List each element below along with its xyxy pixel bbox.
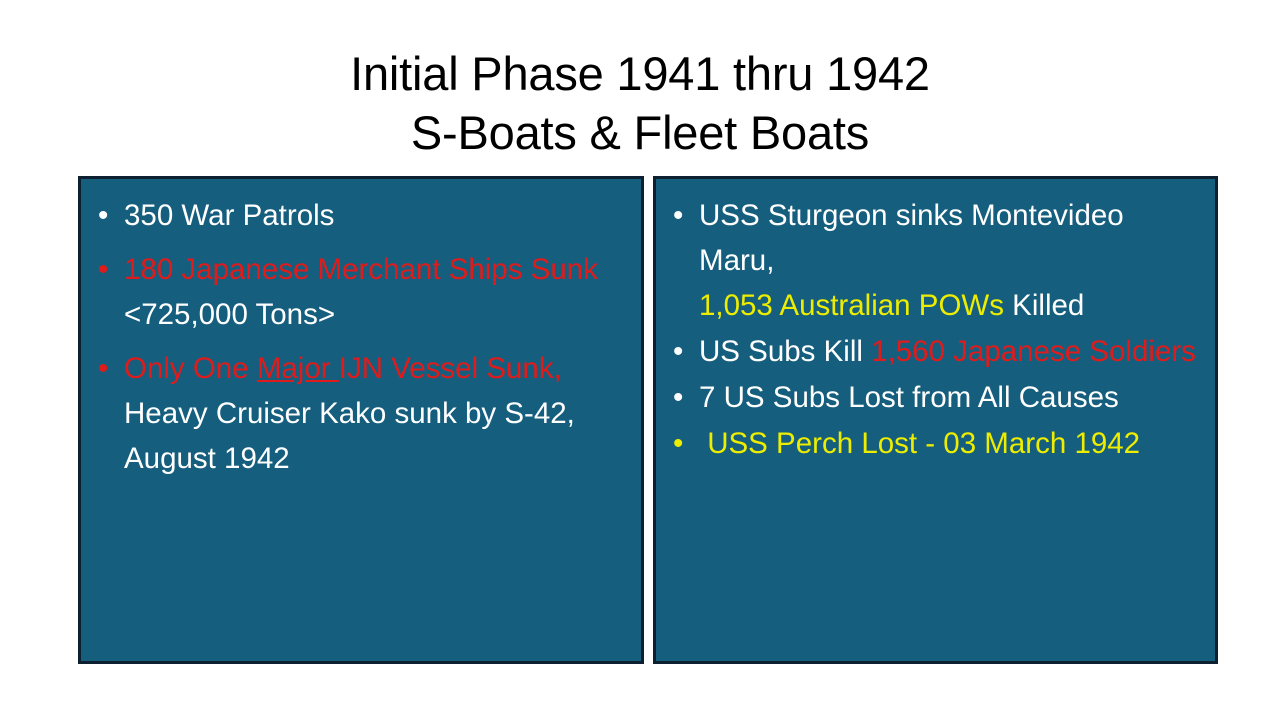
list-item: 350 War Patrols: [95, 193, 631, 238]
title-line-2: S-Boats & Fleet Boats: [64, 103, 1216, 162]
list-item-text-run: 180 Japanese Merchant Ships Sunk: [124, 253, 598, 286]
list-item: 7 US Subs Lost from All Causes: [670, 375, 1205, 420]
list-item-text-run: 1,053 Australian POWs: [699, 289, 1004, 322]
left-bullet-list: 350 War Patrols180 Japanese Merchant Shi…: [95, 193, 631, 481]
title-line-1: Initial Phase 1941 thru 1942: [64, 44, 1216, 103]
list-item-text-run: IJN Vessel Sunk,: [339, 352, 562, 385]
left-content-inner: 350 War Patrols180 Japanese Merchant Shi…: [81, 179, 641, 481]
list-item-text-run: USS Perch Lost - 03 March 1942: [699, 427, 1140, 460]
list-item-text-run: Major: [257, 352, 339, 385]
list-item: USS Sturgeon sinks Montevideo Maru, 1,05…: [670, 193, 1205, 328]
slide-canvas: Initial Phase 1941 thru 1942 S-Boats & F…: [0, 0, 1280, 720]
left-content-box: 350 War Patrols180 Japanese Merchant Shi…: [78, 176, 644, 664]
list-item-text-run: 350 War Patrols: [124, 199, 334, 232]
right-content-inner: USS Sturgeon sinks Montevideo Maru, 1,05…: [656, 179, 1215, 466]
list-item: US Subs Kill 1,560 Japanese Soldiers: [670, 329, 1205, 374]
list-item-text-run: Only One: [124, 352, 257, 385]
right-bullet-list: USS Sturgeon sinks Montevideo Maru, 1,05…: [670, 193, 1205, 466]
list-item-text-run: USS Sturgeon sinks Montevideo Maru,: [699, 199, 1132, 277]
list-item-text-run: US Subs Kill: [699, 335, 871, 368]
right-content-box: USS Sturgeon sinks Montevideo Maru, 1,05…: [653, 176, 1218, 664]
list-item: 180 Japanese Merchant Ships Sunk <725,00…: [95, 247, 631, 337]
list-item-text-run: 7 US Subs Lost from All Causes: [699, 381, 1119, 414]
page-title: Initial Phase 1941 thru 1942 S-Boats & F…: [64, 44, 1216, 162]
list-item: Only One Major IJN Vessel Sunk, Heavy Cr…: [95, 346, 631, 481]
list-item: USS Perch Lost - 03 March 1942: [670, 421, 1205, 466]
list-item-text-run: Killed: [1004, 289, 1084, 322]
list-item-text-run: 1,560 Japanese Soldiers: [871, 335, 1196, 368]
